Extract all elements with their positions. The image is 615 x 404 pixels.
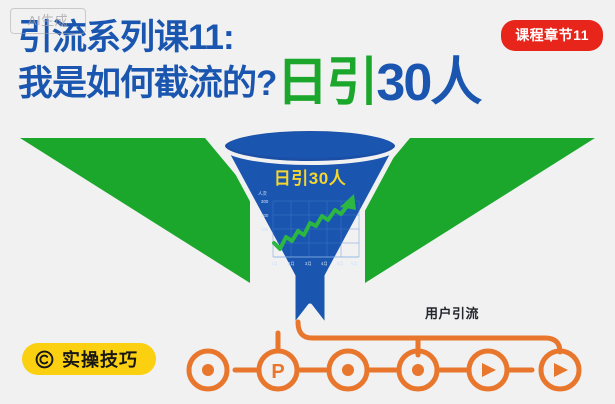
chart-y-tick-labels: 人次 300 200 100 [258, 191, 269, 232]
svg-text:5月: 5月 [337, 261, 344, 267]
svg-text:P: P [271, 361, 284, 383]
ai-generated-watermark: AI生成 [10, 8, 86, 34]
flow-node-2[interactable]: P [259, 351, 297, 389]
svg-text:4月: 4月 [321, 261, 328, 267]
flow-node-3[interactable] [329, 351, 367, 389]
headline-emphasis-green: 日引 [276, 54, 376, 112]
chart-trend-arrow-icon [340, 194, 356, 210]
headline-question-text: 我是如何截流的? [18, 64, 276, 103]
svg-text:6月: 6月 [351, 261, 358, 267]
chapter-badge: 课程章节11 [501, 20, 603, 51]
svg-text:200: 200 [261, 213, 269, 218]
chart-trend-line [274, 205, 348, 249]
copyright-icon [35, 350, 54, 369]
svg-text:100: 100 [261, 227, 269, 232]
svg-text:300: 300 [261, 199, 269, 204]
svg-text:人次: 人次 [258, 191, 267, 197]
tips-badge: 实操技巧 [22, 343, 156, 375]
growth-line-chart: 人次 300 200 100 1月 2月 3月 4月 5月 6月 [255, 191, 365, 273]
flow-node-5[interactable] [469, 351, 507, 389]
user-flow-label: 用户引流 [425, 303, 479, 322]
chart-x-tick-labels: 1月 2月 3月 4月 5月 6月 [271, 261, 358, 267]
flow-node-6[interactable] [541, 351, 579, 389]
svg-text:3月: 3月 [305, 261, 312, 267]
green-wing-left-icon [0, 128, 250, 298]
poster-canvas: AI生成 引流系列课11: 我是如何截流的?日引30人 课程章节11 日引30人 [0, 0, 615, 404]
svg-text:1月: 1月 [271, 261, 278, 267]
flow-node-1[interactable] [189, 351, 227, 389]
headline-block: 引流系列课11: 我是如何截流的?日引30人 [18, 16, 480, 107]
headline-emphasis-blue: 30人 [376, 54, 480, 112]
headline-line-2: 我是如何截流的?日引30人 [18, 60, 480, 107]
tips-badge-label: 实操技巧 [62, 346, 138, 372]
svg-text:2月: 2月 [288, 261, 295, 267]
